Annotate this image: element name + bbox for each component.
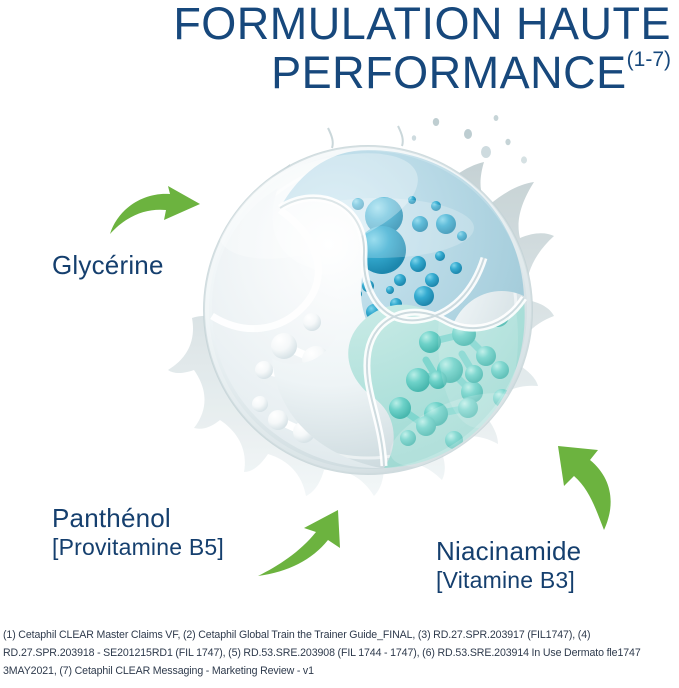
arrow-niacinamide-icon [528, 440, 634, 532]
ingredient-label-panthenol: Panthénol [Provitamine B5] [52, 503, 224, 561]
headline-reference-superscript: (1-7) [627, 48, 671, 71]
headline-line-1: FORMULATION HAUTE [0, 2, 671, 46]
ingredient-alias-niacinamide: [Vitamine B3] [436, 567, 581, 594]
ingredient-name-panthenol: Panthénol [52, 503, 224, 534]
ingredient-alias-panthenol: [Provitamine B5] [52, 534, 224, 561]
arrow-panthenol-icon [256, 508, 366, 580]
headline-line-2-wrapper: PERFORMANCE(1-7) [0, 50, 671, 95]
arrow-glycerine-icon [108, 186, 208, 244]
formulation-sphere-illustration [168, 108, 568, 508]
page-title: FORMULATION HAUTE PERFORMANCE(1-7) [0, 0, 679, 95]
footnote-references: (1) Cetaphil CLEAR Master Claims VF, (2)… [0, 626, 679, 681]
ingredient-label-niacinamide: Niacinamide [Vitamine B3] [436, 536, 581, 594]
ingredient-name-niacinamide: Niacinamide [436, 536, 581, 567]
headline-line-2: PERFORMANCE [271, 47, 627, 98]
ingredient-name-glycerine: Glycérine [52, 250, 164, 281]
footnote-text: (1) Cetaphil CLEAR Master Claims VF, (2)… [3, 629, 641, 677]
ingredient-label-glycerine: Glycérine [52, 250, 164, 281]
